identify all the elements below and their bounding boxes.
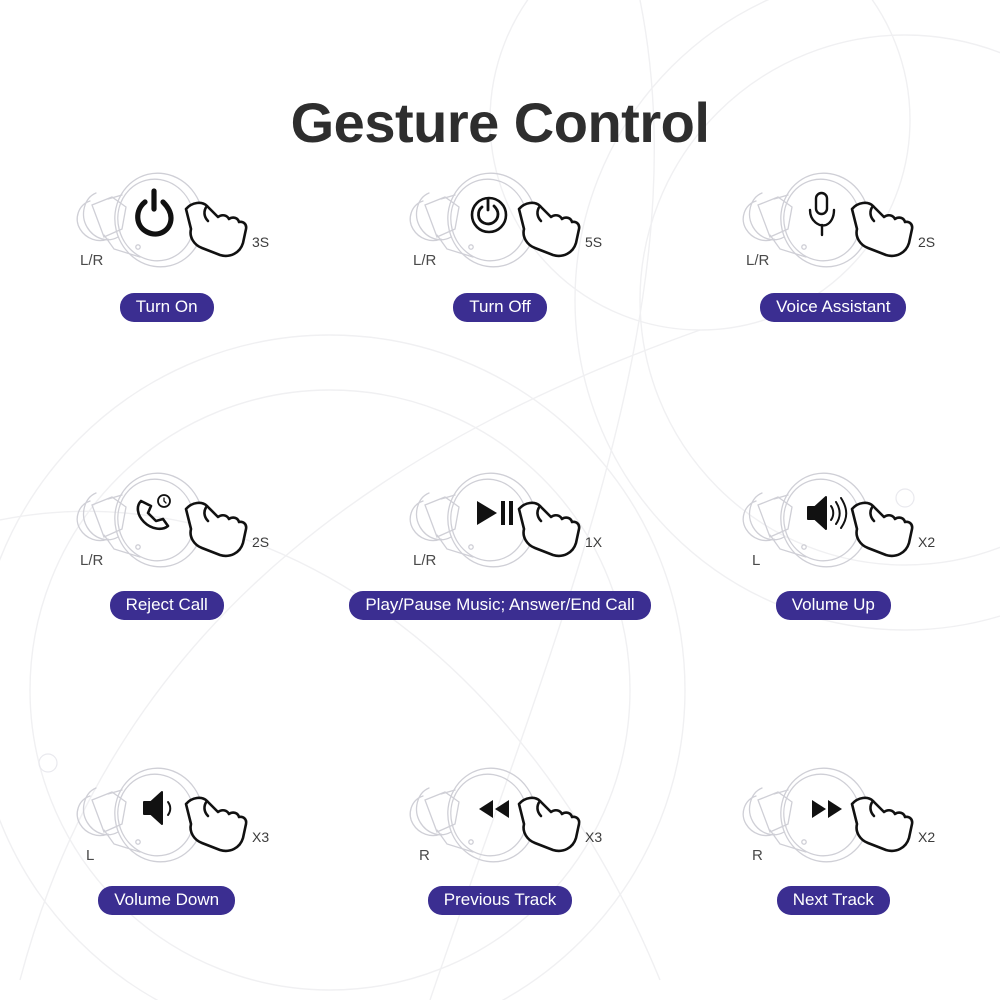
gesture-card-previous-track[interactable]: X3 R Previous Track [333, 760, 666, 975]
gesture-badge[interactable]: Voice Assistant [760, 293, 906, 322]
side-label: L/R [80, 552, 104, 569]
duration-label: 2S [252, 534, 269, 550]
earbud-illustration: 2S L/R [718, 165, 948, 275]
side-label: L [86, 847, 94, 864]
duration-label: 1X [585, 534, 603, 550]
gesture-card-turn-on[interactable]: 3S L/R Turn On [0, 165, 333, 465]
rewind-icon [479, 800, 509, 818]
earbud-illustration: 2S L/R [52, 465, 282, 575]
gesture-badge[interactable]: Reject Call [110, 591, 224, 620]
speaker-up-icon [808, 497, 846, 529]
earbud-illustration: 3S L/R [52, 165, 282, 275]
gesture-card-voice-assistant[interactable]: 2S L/R Voice Assistant [667, 165, 1000, 465]
gesture-badge[interactable]: Turn Off [453, 293, 546, 322]
reject-call-icon [138, 495, 170, 529]
page-title: Gesture Control [0, 90, 1000, 155]
power-icon [137, 191, 170, 234]
gesture-badge[interactable]: Play/Pause Music; Answer/End Call [349, 591, 650, 620]
side-label: R [752, 847, 763, 864]
power-circle-icon [472, 198, 506, 232]
gesture-card-play-pause[interactable]: 1X L/R Play/Pause Music; Answer/End Call [333, 465, 666, 760]
gesture-badge[interactable]: Next Track [777, 886, 890, 915]
duration-label: 2S [918, 234, 935, 250]
gesture-card-volume-down[interactable]: X3 L Volume Down [0, 760, 333, 975]
duration-label: X2 [918, 534, 935, 550]
gesture-badge[interactable]: Previous Track [428, 886, 572, 915]
gesture-card-next-track[interactable]: X2 R Next Track [667, 760, 1000, 975]
side-label: R [419, 847, 430, 864]
fast-forward-icon [812, 800, 842, 818]
gesture-card-turn-off[interactable]: 5S L/R Turn Off [333, 165, 666, 465]
side-label: L/R [80, 252, 104, 269]
gesture-card-reject-call[interactable]: 2S L/R Reject Call [0, 465, 333, 760]
side-label: L/R [413, 552, 437, 569]
gesture-badge[interactable]: Volume Down [98, 886, 235, 915]
microphone-icon [810, 193, 834, 235]
earbud-illustration: X3 R [385, 760, 615, 870]
side-label: L [752, 552, 760, 569]
earbud-illustration: 5S L/R [385, 165, 615, 275]
gesture-badge[interactable]: Volume Up [776, 591, 891, 620]
earbud-illustration: 1X L/R [385, 465, 615, 575]
speaker-down-icon [144, 792, 170, 824]
earbud-illustration: X3 L [52, 760, 282, 870]
play-pause-icon [477, 501, 513, 525]
duration-label: 3S [252, 234, 269, 250]
duration-label: X2 [918, 829, 935, 845]
duration-label: X3 [252, 829, 269, 845]
duration-label: 5S [585, 234, 602, 250]
gesture-grid: 3S L/R Turn On [0, 165, 1000, 975]
earbud-illustration: X2 L [718, 465, 948, 575]
gesture-badge[interactable]: Turn On [120, 293, 214, 322]
earbud-illustration: X2 R [718, 760, 948, 870]
side-label: L/R [746, 252, 770, 269]
duration-label: X3 [585, 829, 602, 845]
gesture-card-volume-up[interactable]: X2 L Volume Up [667, 465, 1000, 760]
side-label: L/R [413, 252, 437, 269]
